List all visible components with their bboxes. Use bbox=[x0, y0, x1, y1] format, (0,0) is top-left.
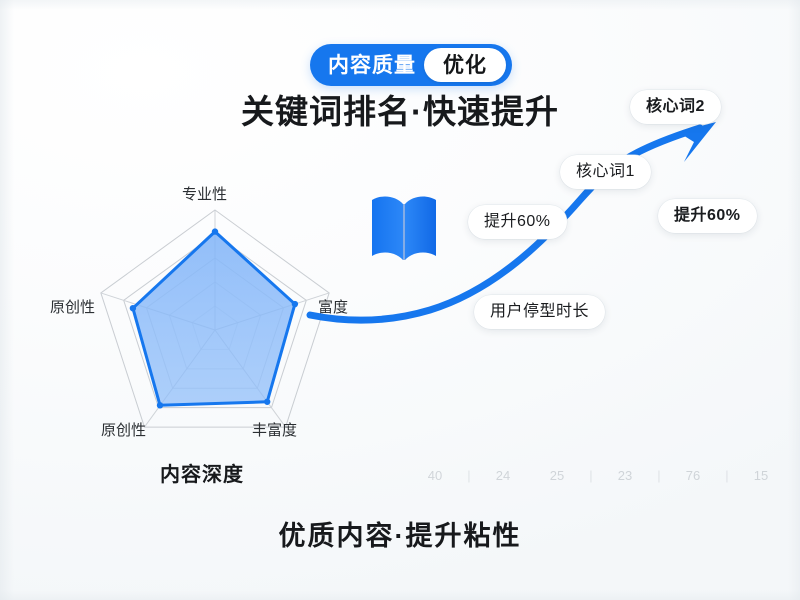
radar-label-bottom-right: 丰富度 bbox=[252, 423, 297, 438]
chip-core-keyword-2: 核心词2 bbox=[630, 90, 721, 124]
axis-value: 24 bbox=[476, 469, 530, 482]
badge-main-label: 内容质量 bbox=[328, 55, 424, 76]
content-quality-badge: 内容质量 优化 bbox=[310, 44, 512, 86]
radar-label-bottom-left: 原创性 bbox=[101, 423, 146, 438]
axis-value: 40 bbox=[408, 469, 462, 482]
chip-uplift-left: 提升60% bbox=[468, 205, 567, 239]
axis-value: 23 bbox=[598, 469, 652, 482]
radar-label-left: 原创性 bbox=[50, 300, 95, 315]
infographic-canvas: 内容质量 优化 关键词排名·快速提升 bbox=[0, 0, 800, 600]
chip-dwell-time: 用户停型时长 bbox=[474, 295, 605, 329]
axis-tick: | bbox=[462, 469, 476, 482]
axis-tick: | bbox=[720, 469, 734, 482]
chip-core-keyword-1: 核心词1 bbox=[560, 155, 651, 189]
sub-caption: 内容深度 bbox=[160, 465, 244, 485]
chip-uplift-right: 提升60% bbox=[658, 199, 757, 233]
axis-value: 76 bbox=[666, 469, 720, 482]
badge-pill-label: 优化 bbox=[424, 48, 506, 82]
axis-value: 25 bbox=[530, 469, 584, 482]
faint-axis-strip: 40|2425|23|76|15 bbox=[408, 464, 788, 486]
axis-value: 15 bbox=[734, 469, 788, 482]
radar-label-top: 专业性 bbox=[182, 187, 227, 202]
footer-title: 优质内容·提升粘性 bbox=[0, 520, 800, 552]
axis-tick: | bbox=[584, 469, 598, 482]
axis-tick: | bbox=[652, 469, 666, 482]
radar-data-area bbox=[133, 232, 295, 406]
